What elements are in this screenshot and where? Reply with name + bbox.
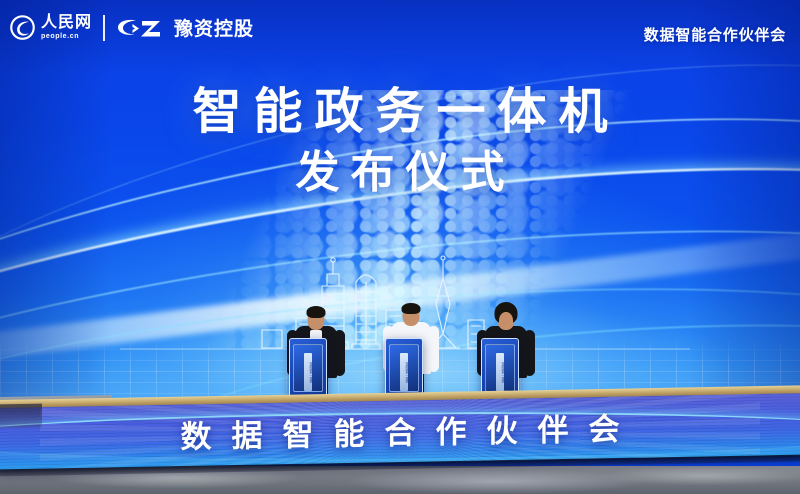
people-daily-cn-text: 人民网 <box>41 15 92 31</box>
kiosk-center-label-text: 智能政务一体机 <box>400 353 408 391</box>
yuzi-holdings-cn-text: 豫资控股 <box>174 14 254 41</box>
event-stage-photo: 人民网 people.cn 豫资控股 数据智能合作伙伴会 智能政务一体机 发布仪… <box>0 0 800 494</box>
title-line-1: 智能政务一体机 <box>0 86 800 139</box>
kiosk-right-label-strip: 智能政务一体机 <box>496 353 504 391</box>
stage-side-shadow <box>0 404 42 429</box>
main-title-block: 智能政务一体机 发布仪式 <box>0 86 800 196</box>
kiosk-right-screen[interactable]: 智能政务一体机 <box>485 344 515 392</box>
header-logo-group: 人民网 people.cn 豫资控股 <box>10 14 254 41</box>
yz-monogram-icon <box>116 17 168 39</box>
people-daily-swirl-icon <box>10 15 35 40</box>
kiosk-center-screen[interactable]: 智能政务一体机 <box>389 344 419 392</box>
people-daily-en-text: people.cn <box>41 33 92 40</box>
kiosk-center-label-strip: 智能政务一体机 <box>400 353 408 391</box>
people-daily-logo[interactable]: 人民网 people.cn <box>10 15 92 40</box>
kiosk-left-screen[interactable]: 智能政务一体机 <box>293 344 323 392</box>
yuzi-holdings-logo[interactable]: 豫资控股 <box>116 14 254 41</box>
event-tag-label: 数据智能合作伙伴会 <box>644 24 786 45</box>
title-line-2: 发布仪式 <box>0 149 800 197</box>
kiosk-left-label-text: 智能政务一体机 <box>304 353 312 391</box>
kiosk-left-label-strip: 智能政务一体机 <box>304 353 312 391</box>
kiosk-right-label-text: 智能政务一体机 <box>496 353 504 391</box>
logo-divider <box>103 15 105 41</box>
